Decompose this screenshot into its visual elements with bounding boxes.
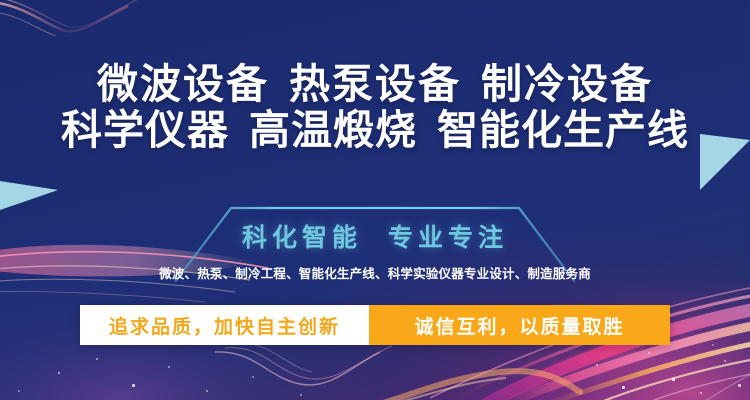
left-arrow-triangle-icon — [0, 181, 58, 210]
headline-item-heatpump: 热泵设备 — [289, 61, 461, 107]
headline-item-microwave: 微波设备 — [97, 61, 269, 107]
headline-line-1: 微波设备热泵设备制冷设备 — [0, 62, 750, 108]
slogan-bar-group: 追求品质，加快自主创新 诚信互利，以质量取胜 — [80, 305, 670, 345]
headline-item-refrigeration: 制冷设备 — [481, 61, 653, 107]
subtitle-left: 科化智能 — [242, 224, 362, 252]
headline-block: 微波设备热泵设备制冷设备 科学仪器高温煅烧智能化生产线 — [0, 62, 750, 154]
promo-banner: 微波设备热泵设备制冷设备 科学仪器高温煅烧智能化生产线 科化智能专业专注 微波、… — [0, 0, 750, 400]
headline-item-calcination: 高温煅烧 — [249, 107, 417, 153]
slogan-bar-integrity: 诚信互利，以质量取胜 — [369, 305, 670, 345]
headline-item-production-line: 智能化生产线 — [437, 107, 689, 153]
headline-line-2: 科学仪器高温煅烧智能化生产线 — [0, 108, 750, 154]
subtitle-block: 科化智能专业专注 — [0, 218, 750, 254]
headline-item-instruments: 科学仪器 — [61, 107, 229, 153]
subtitle-right: 专业专注 — [388, 224, 508, 252]
description-text: 微波、热泵、制冷工程、智能化生产线、科学实验仪器专业设计、制造服务商 — [0, 263, 750, 282]
slogan-bar-quality: 追求品质，加快自主创新 — [80, 305, 369, 345]
